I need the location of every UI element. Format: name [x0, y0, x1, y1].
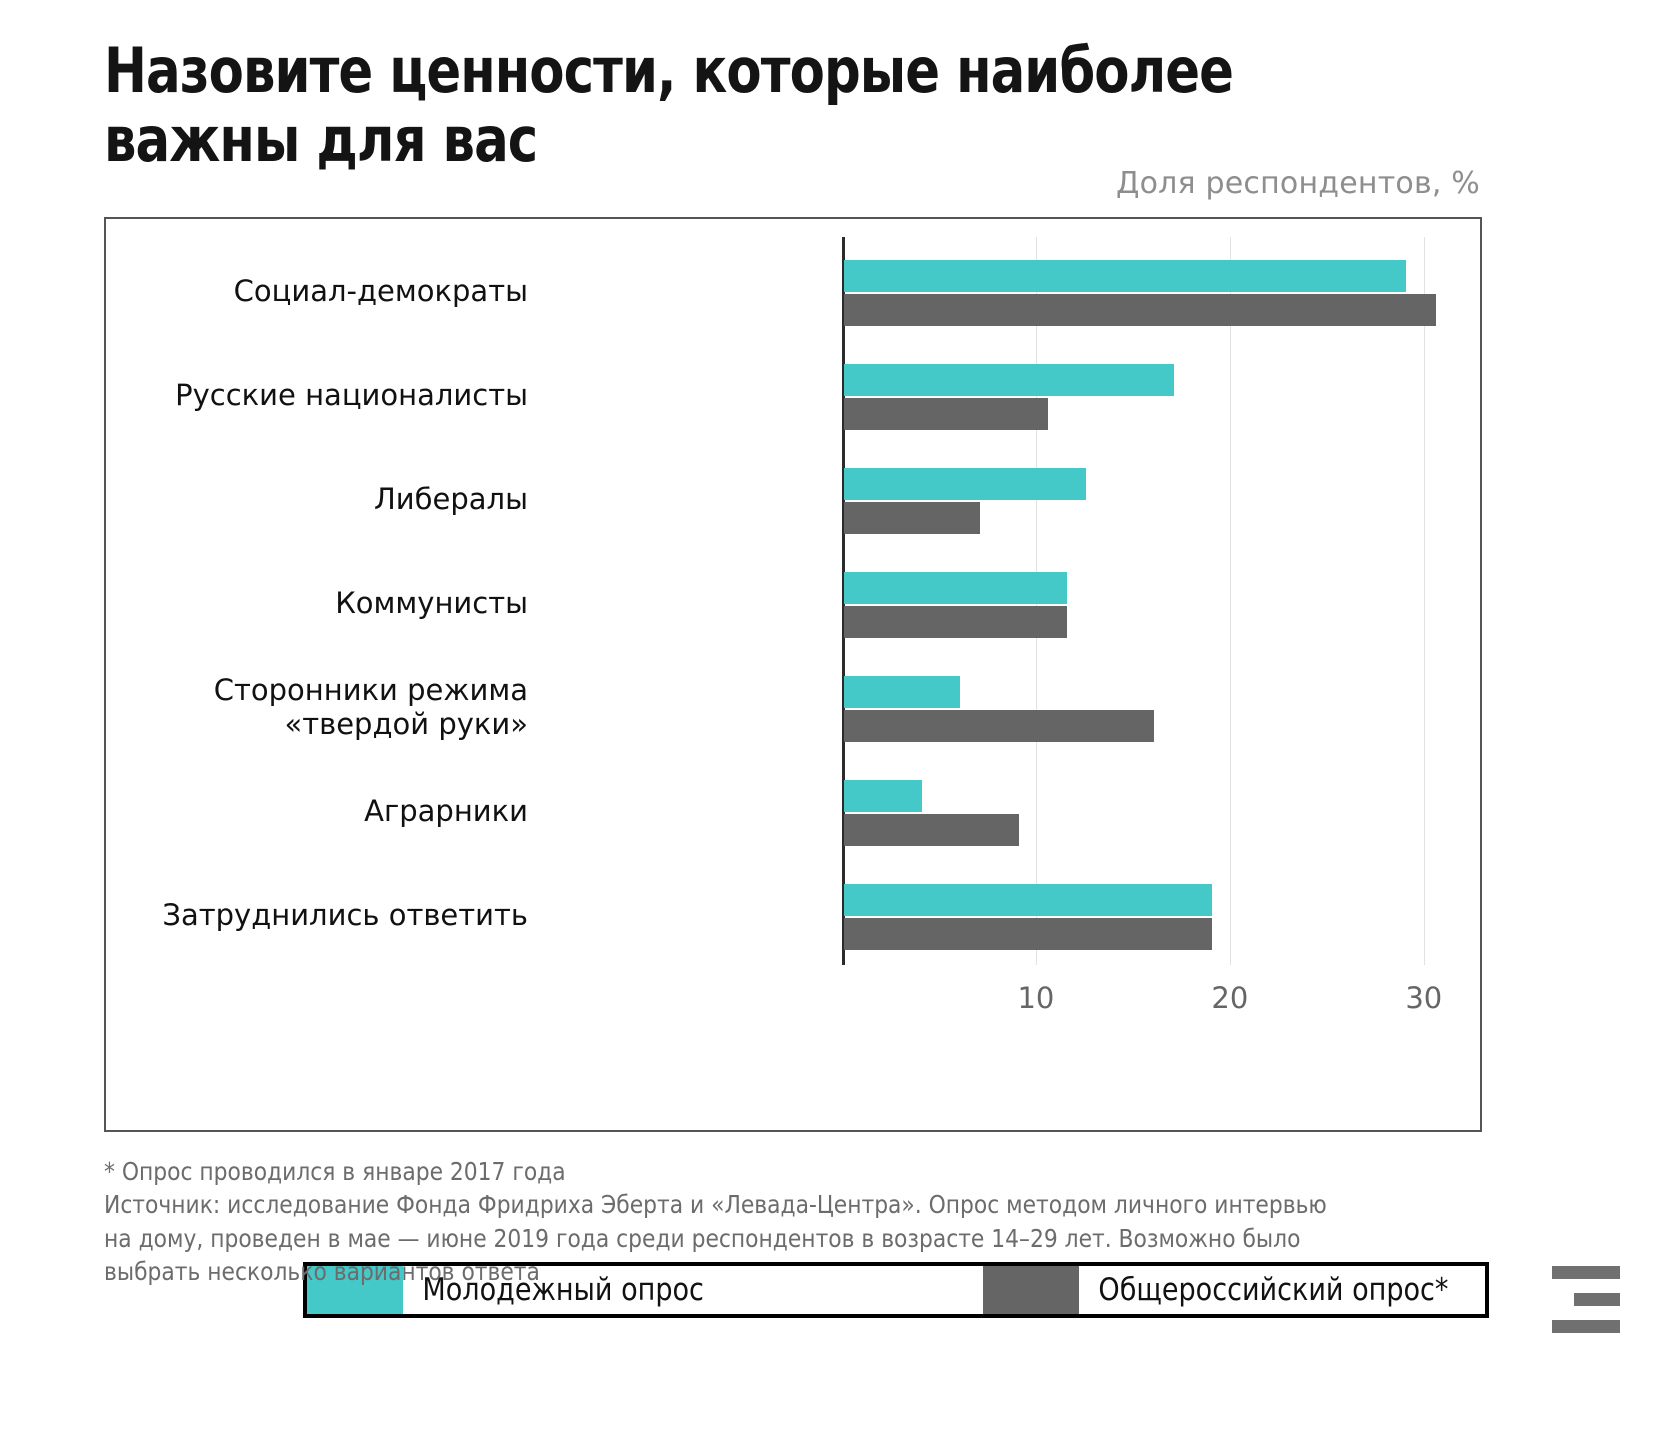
bar-youth-2 — [844, 468, 1086, 500]
bar-allrussia-5 — [844, 814, 1019, 846]
decorative-marks — [1552, 1266, 1620, 1347]
footnote-line-1: * Опрос проводился в январе 2017 года — [104, 1155, 1355, 1188]
x-tick-label-10: 10 — [1017, 981, 1054, 1015]
chart-frame: Социал-демократыРусские националистыЛибе… — [104, 217, 1482, 1132]
bar-youth-1 — [844, 364, 1174, 396]
bar-allrussia-4 — [844, 710, 1154, 742]
category-label-2: Либералы — [374, 482, 528, 516]
mark-bar-3-icon — [1552, 1320, 1620, 1333]
category-label-1: Русские националисты — [175, 378, 528, 412]
bar-allrussia-2 — [844, 502, 980, 534]
footnote-line-2: Источник: исследование Фонда Фридриха Эб… — [104, 1188, 1355, 1221]
chart-subtitle: Доля респондентов, % — [1116, 166, 1480, 201]
gridline-30 — [1424, 237, 1425, 965]
bar-allrussia-0 — [844, 294, 1436, 326]
gridline-20 — [1230, 237, 1231, 965]
bar-allrussia-1 — [844, 398, 1048, 430]
page-title: Назовите ценности, которые наиболее важн… — [104, 36, 1410, 175]
bar-youth-3 — [844, 572, 1067, 604]
category-label-3: Коммунисты — [335, 586, 528, 620]
bar-allrussia-3 — [844, 606, 1067, 638]
footnote-line-4: выбрать несколько вариантов ответа — [104, 1255, 1355, 1288]
category-label-0: Социал-демократы — [234, 274, 528, 308]
bar-allrussia-6 — [844, 918, 1212, 950]
x-tick-label-30: 30 — [1405, 981, 1442, 1015]
bar-youth-4 — [844, 676, 960, 708]
category-label-4: Сторонники режима «твердой руки» — [214, 673, 528, 741]
footnote-line-3: на дому, проведен в мае — июне 2019 года… — [104, 1222, 1355, 1255]
bar-youth-6 — [844, 884, 1212, 916]
bar-youth-5 — [844, 780, 922, 812]
footnotes: * Опрос проводился в январе 2017 года Ис… — [104, 1155, 1355, 1288]
category-label-5: Аграрники — [364, 794, 528, 828]
mark-bar-2-icon — [1574, 1293, 1620, 1306]
mark-bar-1-icon — [1552, 1266, 1620, 1279]
bar-youth-0 — [844, 260, 1406, 292]
category-label-6: Затруднились ответить — [162, 898, 528, 932]
x-tick-label-20: 20 — [1211, 981, 1248, 1015]
